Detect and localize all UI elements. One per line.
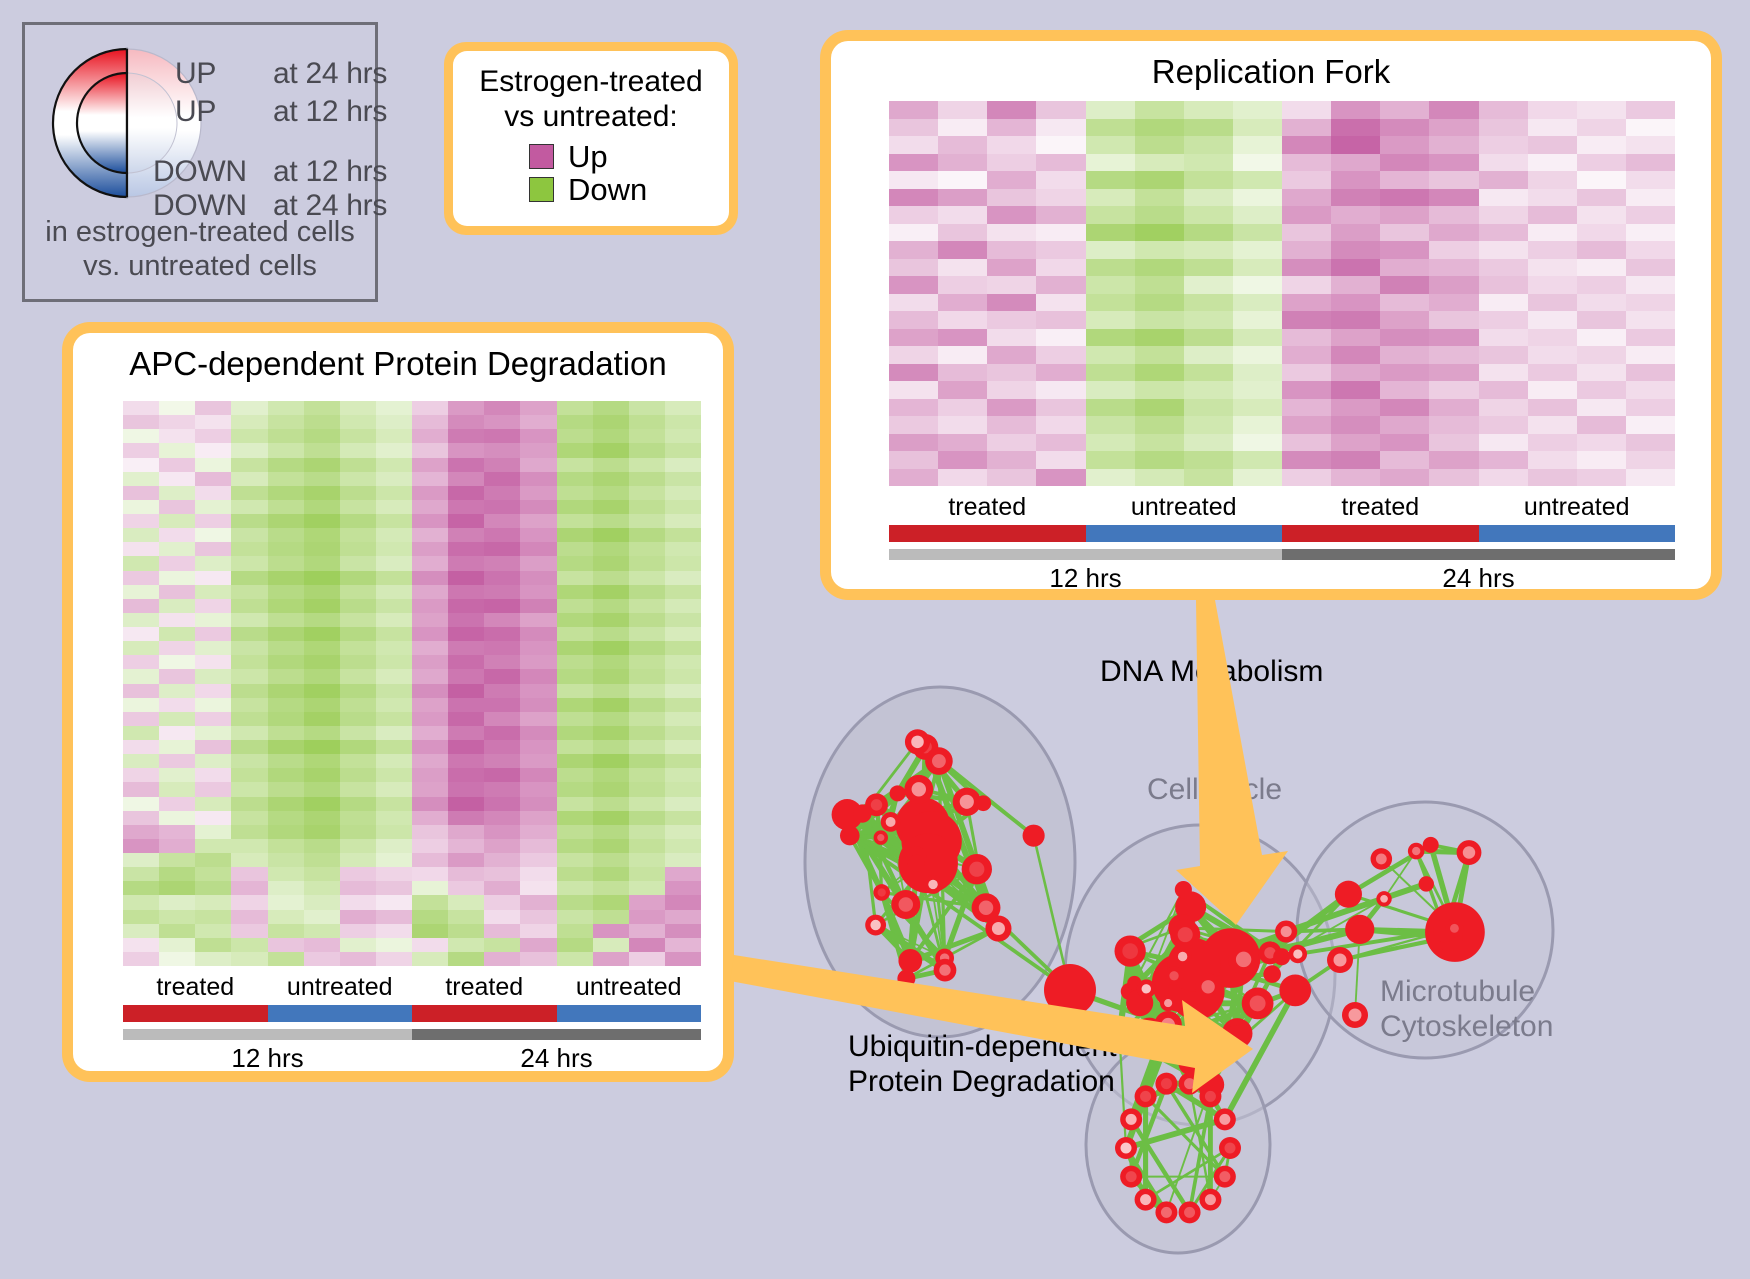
heat-cell	[593, 768, 629, 782]
heat-cell	[448, 641, 484, 655]
heat-cell	[304, 443, 340, 457]
heat-cell	[159, 528, 195, 542]
heat-cell	[1086, 171, 1135, 189]
heat-cell	[376, 782, 412, 796]
heat-cell	[448, 627, 484, 641]
network-node[interactable]	[925, 747, 953, 775]
heat-cell	[304, 754, 340, 768]
heat-cell	[1528, 206, 1577, 224]
network-node[interactable]	[1178, 1052, 1201, 1075]
network-node-inner	[1205, 1194, 1216, 1205]
heat-cell	[268, 712, 304, 726]
heat-cell	[304, 881, 340, 895]
heat-cell	[520, 853, 556, 867]
heat-cell	[889, 311, 938, 329]
heat-cell	[195, 528, 231, 542]
heat-cell	[1233, 189, 1282, 207]
network-node-inner	[877, 834, 884, 841]
heat-cell	[1135, 224, 1184, 242]
network-node-inner	[1184, 1207, 1195, 1218]
heat-cell	[1429, 154, 1478, 172]
heat-cell	[1331, 224, 1380, 242]
heat-cell	[340, 669, 376, 683]
heat-cell	[340, 867, 376, 881]
updown-legend-title-line2: vs untreated:	[469, 100, 713, 135]
heat-cell	[123, 938, 159, 952]
network-node[interactable]	[1423, 837, 1439, 853]
heat-cell	[195, 839, 231, 853]
network-node[interactable]	[1327, 947, 1353, 973]
heat-cell	[304, 867, 340, 881]
network-node-outer	[1175, 881, 1192, 898]
network-node[interactable]	[1225, 1025, 1247, 1047]
heat-cell	[412, 599, 448, 613]
heat-cell	[889, 346, 938, 364]
network-node[interactable]	[891, 890, 920, 919]
heat-cell	[1331, 241, 1380, 259]
network-node[interactable]	[1199, 1085, 1221, 1107]
heat-cell	[231, 458, 267, 472]
network-node[interactable]	[1155, 1073, 1177, 1095]
heat-cell	[889, 119, 938, 137]
heat-cell	[1626, 206, 1675, 224]
network-node[interactable]	[865, 915, 886, 936]
heat-cell	[987, 294, 1036, 312]
heat-cell	[593, 585, 629, 599]
heat-cell	[268, 443, 304, 457]
heat-cell	[1282, 136, 1331, 154]
heat-cell	[1184, 136, 1233, 154]
heat-cell	[268, 458, 304, 472]
heat-cell	[1135, 381, 1184, 399]
heat-cell	[1626, 364, 1675, 382]
heat-cell	[304, 938, 340, 952]
cluster-label-microtubule-cytoskeleton: Microtubule Cytoskeleton	[1380, 975, 1553, 1045]
network-node-inner	[1281, 926, 1292, 937]
network-node[interactable]	[874, 830, 888, 844]
network-node[interactable]	[1289, 945, 1307, 963]
network-node[interactable]	[840, 826, 860, 846]
heat-cell	[520, 528, 556, 542]
heat-cell	[1184, 451, 1233, 469]
heat-cell	[1380, 119, 1429, 137]
heat-cell	[1233, 311, 1282, 329]
network-node[interactable]	[1342, 1002, 1368, 1028]
heat-cell	[987, 276, 1036, 294]
heat-cell	[665, 556, 701, 570]
heat-cell	[159, 698, 195, 712]
network-node[interactable]	[1275, 920, 1297, 942]
network-node[interactable]	[1214, 1166, 1236, 1188]
heat-cell	[520, 556, 556, 570]
heat-cell	[123, 599, 159, 613]
heat-cell	[376, 768, 412, 782]
heat-cell	[376, 881, 412, 895]
network-node[interactable]	[1044, 964, 1096, 1016]
network-node[interactable]	[1214, 1108, 1236, 1130]
heat-cell	[448, 797, 484, 811]
network-node[interactable]	[1195, 973, 1222, 1000]
network-node[interactable]	[1170, 920, 1200, 950]
heat-cell	[665, 740, 701, 754]
network-node-outer	[1263, 965, 1281, 983]
heat-cell	[665, 797, 701, 811]
heat-cell	[557, 429, 593, 443]
heat-cell	[268, 698, 304, 712]
heat-cell	[1626, 329, 1675, 347]
heat-cell	[593, 571, 629, 585]
heat-cell	[448, 401, 484, 415]
heat-cell	[195, 881, 231, 895]
network-node-inner	[979, 901, 993, 915]
heat-cell	[484, 938, 520, 952]
heat-cell	[484, 853, 520, 867]
network-node[interactable]	[1165, 966, 1184, 985]
heat-cell	[268, 627, 304, 641]
heat-cell	[1135, 171, 1184, 189]
heat-cell	[665, 500, 701, 514]
heat-cell	[304, 895, 340, 909]
network-node-outer	[1273, 948, 1290, 965]
heat-cell	[520, 712, 556, 726]
heat-cell	[231, 740, 267, 754]
heat-cell	[159, 472, 195, 486]
heat-cell	[889, 101, 938, 119]
heat-cell	[557, 641, 593, 655]
heat-cell	[159, 415, 195, 429]
network-node[interactable]	[1228, 944, 1259, 975]
heat-cell	[159, 895, 195, 909]
heat-cell	[1577, 154, 1626, 172]
network-node[interactable]	[1273, 948, 1290, 965]
heat-cell	[159, 867, 195, 881]
heat-cell	[987, 241, 1036, 259]
heat-cell	[520, 910, 556, 924]
network-node[interactable]	[1279, 975, 1311, 1007]
network-node-inner	[1178, 952, 1187, 961]
network-node-inner	[1142, 984, 1151, 993]
network-node[interactable]	[1135, 1189, 1157, 1211]
rf-treatment-seg-0	[889, 525, 1086, 542]
heat-cell	[1479, 434, 1528, 452]
network-node[interactable]	[1115, 1137, 1137, 1159]
heat-cell	[938, 276, 987, 294]
heat-cell	[376, 458, 412, 472]
heat-cell	[557, 754, 593, 768]
heat-cell	[376, 726, 412, 740]
heat-cell	[1282, 101, 1331, 119]
heat-cell	[376, 669, 412, 683]
heat-cell	[629, 627, 665, 641]
apc-time-seg-24h	[412, 1029, 701, 1040]
heat-cell	[448, 726, 484, 740]
heat-cell	[484, 514, 520, 528]
network-node[interactable]	[975, 795, 991, 811]
heat-cell	[938, 381, 987, 399]
heat-cell	[195, 443, 231, 457]
network-node[interactable]	[1120, 1166, 1142, 1188]
heat-cell	[1626, 189, 1675, 207]
network-node[interactable]	[1457, 840, 1482, 865]
heat-cell	[1282, 259, 1331, 277]
heat-cell	[195, 684, 231, 698]
network-node[interactable]	[924, 875, 943, 894]
heat-cell	[889, 294, 938, 312]
network-node[interactable]	[897, 970, 915, 988]
heat-cell	[1184, 189, 1233, 207]
heat-cell	[412, 867, 448, 881]
heat-cell	[340, 571, 376, 585]
heat-cell	[665, 726, 701, 740]
heat-cell	[520, 655, 556, 669]
heat-cell	[376, 542, 412, 556]
heat-cell	[376, 698, 412, 712]
heat-cell	[1380, 434, 1429, 452]
heat-cell	[987, 206, 1036, 224]
heat-cell	[1577, 276, 1626, 294]
heat-cell	[1135, 311, 1184, 329]
heat-cell	[557, 613, 593, 627]
heat-cell	[195, 613, 231, 627]
network-node[interactable]	[1137, 979, 1156, 998]
network-node[interactable]	[1155, 1201, 1177, 1223]
heat-cell	[412, 669, 448, 683]
heat-cell	[557, 585, 593, 599]
network-node[interactable]	[1376, 891, 1391, 906]
network-node[interactable]	[1219, 1137, 1241, 1159]
heat-cell	[231, 938, 267, 952]
heat-cell	[340, 938, 376, 952]
wheel-row-1-direction: UP	[175, 95, 216, 129]
heat-cell	[1086, 136, 1135, 154]
heat-cell	[1233, 119, 1282, 137]
heat-cell	[1086, 434, 1135, 452]
heat-cell	[1184, 416, 1233, 434]
heat-cell	[1528, 189, 1577, 207]
heat-cell	[159, 938, 195, 952]
network-node-inner	[911, 736, 924, 749]
heat-cell	[1626, 136, 1675, 154]
heat-cell	[376, 415, 412, 429]
network-node[interactable]	[934, 959, 957, 982]
heat-cell	[448, 811, 484, 825]
heat-cell	[448, 938, 484, 952]
down-swatch-icon	[529, 177, 554, 202]
heat-cell	[376, 867, 412, 881]
rf-time-label-24h: 24 hrs	[1282, 563, 1675, 589]
network-node[interactable]	[1345, 915, 1374, 944]
heat-cell	[629, 443, 665, 457]
heat-cell	[304, 669, 340, 683]
panel-replication-fork: Replication Fork treated untreated treat…	[820, 30, 1722, 600]
heat-cell	[1479, 206, 1528, 224]
heat-cell	[340, 500, 376, 514]
heat-cell	[593, 556, 629, 570]
apc-group-label-0: treated	[123, 973, 268, 1002]
heat-cell	[268, 401, 304, 415]
network-node-inner	[1121, 1143, 1132, 1154]
heat-cell	[1086, 154, 1135, 172]
heat-cell	[231, 811, 267, 825]
heat-cell	[304, 415, 340, 429]
network-node[interactable]	[985, 915, 1011, 941]
network-node[interactable]	[1199, 1189, 1221, 1211]
heat-cell	[159, 613, 195, 627]
heat-cell	[231, 768, 267, 782]
heat-cell	[1086, 364, 1135, 382]
network-node[interactable]	[1419, 876, 1434, 891]
network-node[interactable]	[1135, 1085, 1157, 1107]
heat-cell	[268, 556, 304, 570]
heat-cell	[1626, 346, 1675, 364]
heat-cell	[376, 472, 412, 486]
heat-cell	[123, 839, 159, 853]
heat-cell	[412, 585, 448, 599]
network-node[interactable]	[1120, 1108, 1142, 1130]
network-node[interactable]	[1114, 935, 1145, 966]
heat-cell	[412, 401, 448, 415]
heat-cell	[340, 458, 376, 472]
network-node-inner	[960, 795, 974, 809]
heat-cell	[376, 500, 412, 514]
colorwheel-caption-line2: vs. untreated cells	[25, 249, 375, 283]
network-node[interactable]	[1173, 947, 1192, 966]
heat-cell	[1577, 294, 1626, 312]
heat-cell	[1577, 434, 1626, 452]
network-node[interactable]	[1179, 1201, 1201, 1223]
network-node[interactable]	[1335, 881, 1362, 908]
heat-cell	[1233, 276, 1282, 294]
heat-cell	[159, 571, 195, 585]
heat-cell	[231, 825, 267, 839]
rf-group-labels: treated untreated treated untreated	[889, 493, 1675, 522]
heat-cell	[520, 669, 556, 683]
heat-cell	[1429, 241, 1478, 259]
heat-cell	[1528, 276, 1577, 294]
heat-cell	[1331, 206, 1380, 224]
heat-cell	[1331, 329, 1380, 347]
network-node[interactable]	[873, 884, 890, 901]
network-node[interactable]	[1135, 1018, 1163, 1046]
network-node[interactable]	[1263, 965, 1281, 983]
heat-cell	[520, 542, 556, 556]
heat-cell	[448, 556, 484, 570]
network-node[interactable]	[865, 793, 888, 816]
network-node-inner	[871, 799, 882, 810]
heat-cell	[1282, 416, 1331, 434]
heat-cell	[448, 542, 484, 556]
heat-cell	[340, 839, 376, 853]
network-node[interactable]	[881, 812, 901, 832]
heat-cell	[376, 952, 412, 966]
heat-cell	[268, 782, 304, 796]
network-node[interactable]	[1408, 843, 1425, 860]
heat-cell	[195, 853, 231, 867]
network-node[interactable]	[898, 949, 922, 973]
heat-cell	[665, 825, 701, 839]
network-node[interactable]	[1175, 881, 1192, 898]
network-node[interactable]	[1446, 919, 1464, 937]
network-node-inner	[1205, 1091, 1216, 1102]
heat-cell	[448, 458, 484, 472]
heat-cell	[593, 655, 629, 669]
heat-cell	[629, 655, 665, 669]
heat-cell	[1577, 136, 1626, 154]
heat-cell	[593, 839, 629, 853]
heat-cell	[889, 364, 938, 382]
heat-cell	[123, 528, 159, 542]
heat-cell	[159, 599, 195, 613]
wheel-row-1-time: at 12 hrs	[273, 95, 387, 129]
network-node[interactable]	[890, 785, 906, 801]
heat-cell	[1331, 259, 1380, 277]
heat-cell	[123, 641, 159, 655]
network-node[interactable]	[1023, 825, 1045, 847]
network-node[interactable]	[1179, 1073, 1201, 1095]
heat-cell	[593, 613, 629, 627]
heat-cell	[484, 740, 520, 754]
heat-cell	[1528, 171, 1577, 189]
heat-cell	[557, 924, 593, 938]
heat-cell	[195, 556, 231, 570]
heat-cell	[1086, 469, 1135, 487]
network-node[interactable]	[1242, 988, 1274, 1020]
colorwheel-caption: in estrogen-treated cells vs. untreated …	[25, 215, 375, 283]
heat-cell	[1331, 451, 1380, 469]
heat-cell	[304, 514, 340, 528]
heat-cell	[1429, 224, 1478, 242]
heat-cell	[665, 528, 701, 542]
network-node[interactable]	[1371, 848, 1393, 870]
network-node[interactable]	[1160, 995, 1176, 1011]
heat-cell	[1380, 154, 1429, 172]
rf-time-label-12h: 12 hrs	[889, 563, 1282, 589]
heat-cell	[665, 782, 701, 796]
heat-cell	[520, 811, 556, 825]
heat-cell	[376, 556, 412, 570]
heat-cell	[123, 443, 159, 457]
network-node[interactable]	[908, 855, 925, 872]
heat-cell	[1479, 451, 1528, 469]
heat-cell	[629, 754, 665, 768]
heat-cell	[412, 952, 448, 966]
network-node[interactable]	[904, 775, 933, 804]
network-node[interactable]	[905, 729, 930, 754]
heat-cell	[557, 895, 593, 909]
heat-cell	[376, 641, 412, 655]
heat-cell	[987, 416, 1036, 434]
heat-cell	[938, 189, 987, 207]
heat-cell	[1528, 469, 1577, 487]
heat-cell	[1086, 416, 1135, 434]
heat-cell	[1036, 416, 1085, 434]
apc-treatment-seg-2	[412, 1005, 557, 1022]
heat-cell	[557, 542, 593, 556]
network-node-outer	[898, 949, 922, 973]
heat-cell	[1135, 469, 1184, 487]
network-node-outer	[1178, 1052, 1201, 1075]
heat-cell	[987, 329, 1036, 347]
heat-cell	[1331, 346, 1380, 364]
heat-cell	[340, 754, 376, 768]
heat-cell	[195, 768, 231, 782]
heat-cell	[123, 613, 159, 627]
network-node[interactable]	[962, 854, 992, 884]
heat-cell	[938, 154, 987, 172]
network-node-outer	[1225, 1025, 1247, 1047]
heat-cell	[1577, 364, 1626, 382]
heat-cell	[593, 938, 629, 952]
